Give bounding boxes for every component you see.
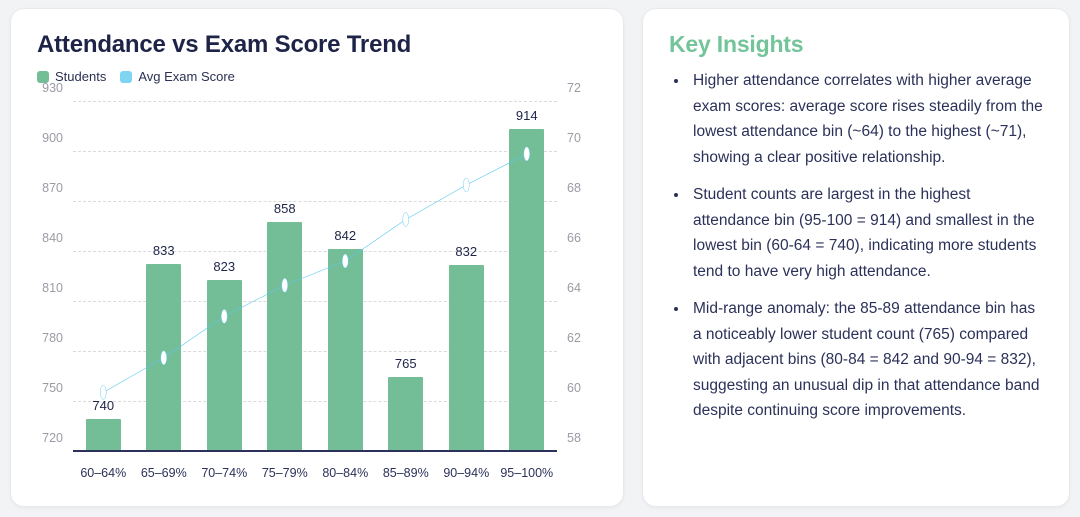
y-axis-left-tick: 810 xyxy=(42,281,63,295)
legend-item[interactable]: Avg Exam Score xyxy=(120,69,235,84)
square-swatch-icon xyxy=(120,71,132,83)
y-axis-right-tick: 58 xyxy=(567,431,581,445)
y-axis-left-tick: 930 xyxy=(42,81,63,95)
y-axis-left-tick: 750 xyxy=(42,381,63,395)
chart-legend: StudentsAvg Exam Score xyxy=(37,69,609,84)
line-data-point[interactable] xyxy=(403,213,409,227)
line-data-point[interactable] xyxy=(221,309,227,323)
insight-bullet: Higher attendance correlates with higher… xyxy=(689,68,1047,170)
y-axis-right-tick: 68 xyxy=(567,181,581,195)
y-axis-left-tick: 780 xyxy=(42,331,63,345)
insight-bullet: Student counts are largest in the highes… xyxy=(689,182,1047,284)
plot-canvas: 720750780810840870900930 586062646668707… xyxy=(73,102,557,452)
y-axis-left-tick: 720 xyxy=(42,431,63,445)
line-data-point[interactable] xyxy=(342,254,348,268)
line-data-point[interactable] xyxy=(524,147,530,161)
line-data-point[interactable] xyxy=(463,178,469,192)
insights-title: Key Insights xyxy=(669,31,1047,58)
y-axis-right-tick: 72 xyxy=(567,81,581,95)
dashboard-page: Attendance vs Exam Score Trend StudentsA… xyxy=(0,0,1080,517)
insights-card: Key Insights Higher attendance correlate… xyxy=(642,8,1070,507)
y-axis-right-tick: 60 xyxy=(567,381,581,395)
page-title: Attendance vs Exam Score Trend xyxy=(37,31,609,59)
chart-card: Attendance vs Exam Score Trend StudentsA… xyxy=(10,8,624,507)
insights-list: Higher attendance correlates with higher… xyxy=(667,68,1047,424)
y-axis-left-tick: 900 xyxy=(42,131,63,145)
y-axis-left-tick: 840 xyxy=(42,231,63,245)
insight-bullet: Mid-range anomaly: the 85-89 attendance … xyxy=(689,296,1047,424)
y-axis-left-tick: 870 xyxy=(42,181,63,195)
line-data-point[interactable] xyxy=(161,351,167,365)
plot-area: 720750780810840870900930 586062646668707… xyxy=(25,96,609,498)
line-data-point[interactable] xyxy=(282,278,288,292)
line-series xyxy=(73,102,557,517)
x-axis-line xyxy=(73,450,557,452)
line-data-point[interactable] xyxy=(100,385,106,399)
y-axis-right-tick: 62 xyxy=(567,331,581,345)
y-axis-right-tick: 64 xyxy=(567,281,581,295)
legend-label: Avg Exam Score xyxy=(138,69,235,84)
y-axis-right-tick: 70 xyxy=(567,131,581,145)
y-axis-right-tick: 66 xyxy=(567,231,581,245)
